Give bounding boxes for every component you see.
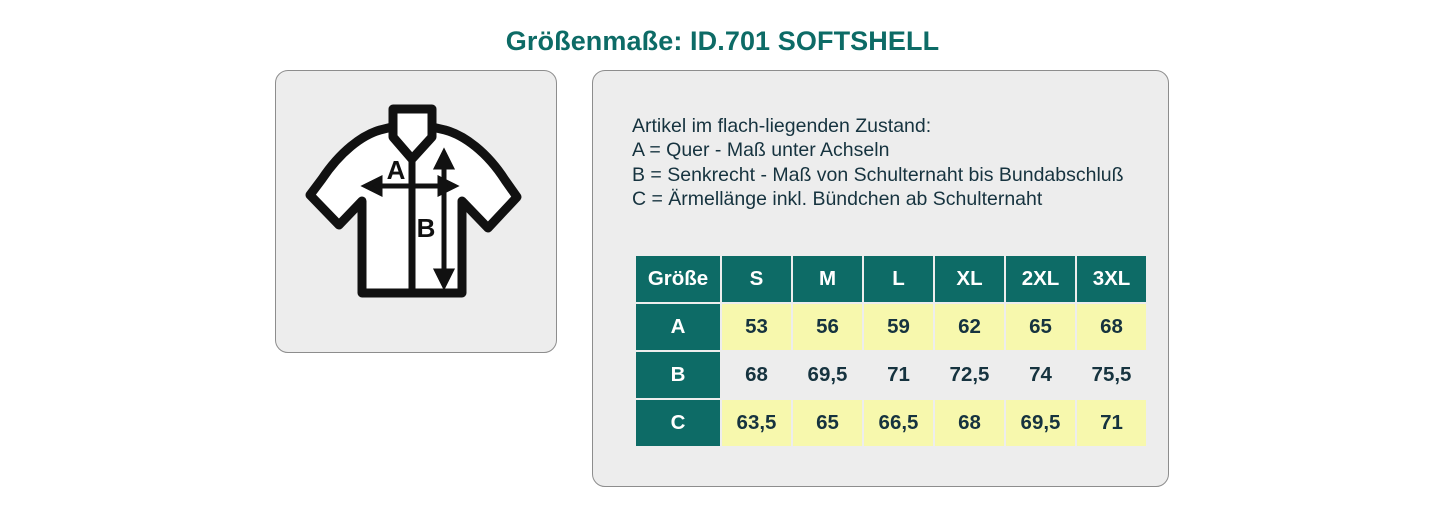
page-title: Größenmaße: ID.701 SOFTSHELL xyxy=(0,26,1445,57)
cell-c-s: 63,5 xyxy=(722,400,791,446)
cell-a-s: 53 xyxy=(722,304,791,350)
cell-a-2xl: 65 xyxy=(1006,304,1075,350)
size-table: Größe S M L XL 2XL 3XL A 53 56 59 62 65 … xyxy=(634,254,1148,448)
cell-b-s: 68 xyxy=(722,352,791,398)
cell-c-3xl: 71 xyxy=(1077,400,1146,446)
column-header-2xl: 2XL xyxy=(1006,256,1075,302)
table-row: A 53 56 59 62 65 68 xyxy=(636,304,1146,350)
table-header-row: Größe S M L XL 2XL 3XL xyxy=(636,256,1146,302)
table-row: B 68 69,5 71 72,5 74 75,5 xyxy=(636,352,1146,398)
cell-c-l: 66,5 xyxy=(864,400,933,446)
cell-b-m: 69,5 xyxy=(793,352,862,398)
measure-label-b: B xyxy=(417,213,436,243)
table-row: C 63,5 65 66,5 68 69,5 71 xyxy=(636,400,1146,446)
cell-b-l: 71 xyxy=(864,352,933,398)
legend-line-b: B = Senkrecht - Maß von Schulternaht bis… xyxy=(632,163,1124,187)
measurements-panel: Artikel im flach-liegenden Zustand: A = … xyxy=(592,70,1169,487)
measurement-legend: Artikel im flach-liegenden Zustand: A = … xyxy=(632,114,1124,212)
cell-c-xl: 68 xyxy=(935,400,1004,446)
illustration-panel: A B xyxy=(275,70,557,353)
cell-a-l: 59 xyxy=(864,304,933,350)
legend-line-c: C = Ärmellänge inkl. Bündchen ab Schulte… xyxy=(632,187,1124,211)
measure-label-a: A xyxy=(387,155,406,185)
table-corner-header: Größe xyxy=(636,256,720,302)
row-label-c: C xyxy=(636,400,720,446)
row-label-b: B xyxy=(636,352,720,398)
cell-c-m: 65 xyxy=(793,400,862,446)
column-header-l: L xyxy=(864,256,933,302)
cell-a-m: 56 xyxy=(793,304,862,350)
legend-line-intro: Artikel im flach-liegenden Zustand: xyxy=(632,114,1124,138)
cell-b-2xl: 74 xyxy=(1006,352,1075,398)
column-header-s: S xyxy=(722,256,791,302)
column-header-3xl: 3XL xyxy=(1077,256,1146,302)
legend-line-a: A = Quer - Maß unter Achseln xyxy=(632,138,1124,162)
softshell-jacket-icon: A B xyxy=(292,97,542,327)
cell-a-xl: 62 xyxy=(935,304,1004,350)
row-label-a: A xyxy=(636,304,720,350)
column-header-m: M xyxy=(793,256,862,302)
cell-a-3xl: 68 xyxy=(1077,304,1146,350)
cell-b-xl: 72,5 xyxy=(935,352,1004,398)
cell-c-2xl: 69,5 xyxy=(1006,400,1075,446)
column-header-xl: XL xyxy=(935,256,1004,302)
cell-b-3xl: 75,5 xyxy=(1077,352,1146,398)
